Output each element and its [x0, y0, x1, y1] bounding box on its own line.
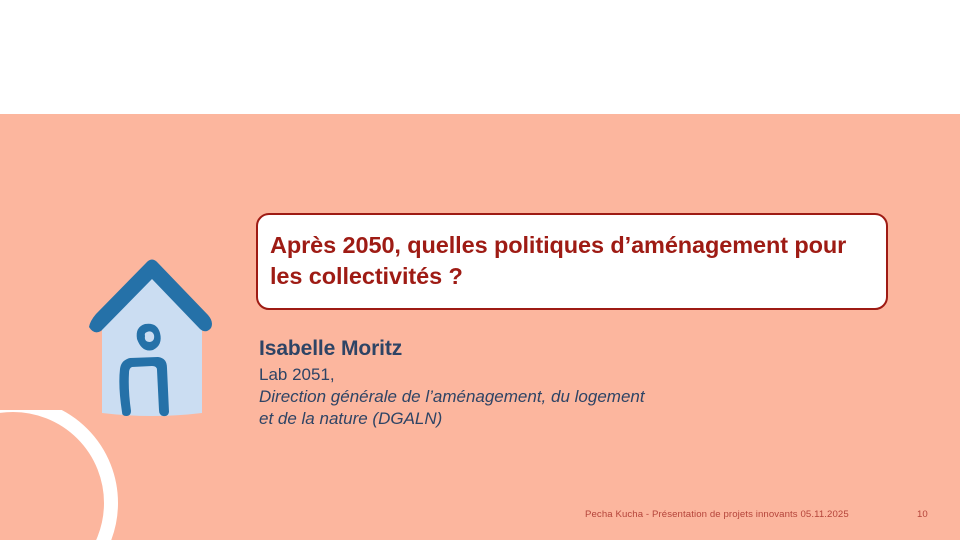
footer-page-number: 10	[917, 508, 928, 522]
speaker-org: Lab 2051,	[259, 364, 779, 386]
header-band	[0, 0, 960, 114]
slide-title: Après 2050, quelles politiques d’aménage…	[270, 230, 872, 292]
speaker-block: Isabelle Moritz Lab 2051, Direction géné…	[259, 336, 779, 430]
house-body	[102, 265, 202, 416]
speaker-department-line-2: et de la nature (DGALN)	[259, 408, 779, 430]
speaker-department-line-1: Direction générale de l’aménagement, du …	[259, 386, 779, 408]
presentation-slide: MINISTÈRES TRANSITION ÉCOLOGIQUE AMÉNAGE…	[0, 0, 960, 540]
hand-drawn-house-icon	[72, 243, 232, 418]
speaker-name: Isabelle Moritz	[259, 336, 779, 362]
footer-event-label: Pecha Kucha - Présentation de projets in…	[585, 508, 849, 522]
speaker-department: Direction générale de l’aménagement, du …	[259, 386, 779, 430]
slide-footer: Pecha Kucha - Présentation de projets in…	[0, 508, 960, 528]
slide-title-box: Après 2050, quelles politiques d’aménage…	[256, 213, 888, 310]
